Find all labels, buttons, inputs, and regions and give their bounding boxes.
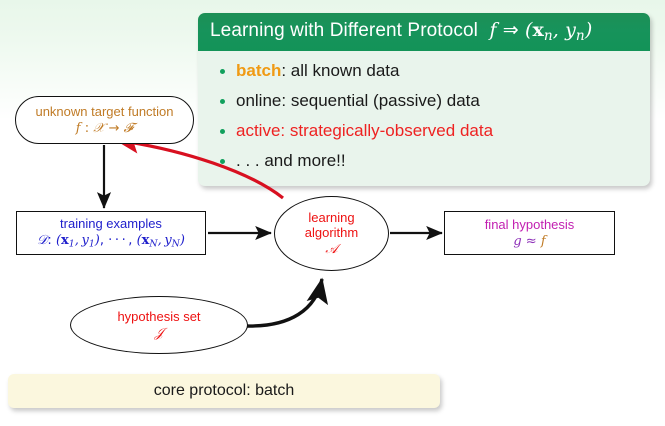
node-final-hypothesis: final hypothesis g ≈ f xyxy=(444,211,615,255)
node-learning-algorithm: learning algorithm 𝒜 xyxy=(274,196,389,271)
bullet-dot-icon xyxy=(220,159,225,164)
node-label-line1: unknown target function xyxy=(35,104,173,119)
node-label-line2: 𝒥 xyxy=(155,326,164,341)
bullet-rest: : sequential (passive) data xyxy=(281,91,479,110)
protocol-panel-title: Learning with Different Protocol f ⇒ (xn… xyxy=(198,13,650,51)
node-unknown-target-function: unknown target function f : 𝒳 → 𝓕 xyxy=(15,96,194,144)
bullet-term: batch xyxy=(236,61,281,80)
protocol-panel: Learning with Different Protocol f ⇒ (xn… xyxy=(198,13,650,186)
node-label-line2: g ≈ f xyxy=(513,234,545,249)
node-label-line1: hypothesis set xyxy=(117,309,200,324)
node-label-line2: 𝒟: (x1, y1), · · · , (xN, yN) xyxy=(37,233,185,250)
node-label-line2: f : 𝒳 → 𝓕 xyxy=(76,121,133,136)
core-protocol-banner-text: core protocol: batch xyxy=(154,382,295,400)
bullet-rest: : strategically-observed data xyxy=(280,121,493,140)
bullet-dot-icon xyxy=(220,129,225,134)
protocol-panel-title-text: Learning with Different Protocol xyxy=(210,20,478,41)
node-label-line1: training examples xyxy=(60,216,162,231)
slide-canvas: Learning with Different Protocol f ⇒ (xn… xyxy=(0,0,665,426)
bullet-term: active xyxy=(236,121,280,140)
protocol-bullet-list: batch: all known data online: sequential… xyxy=(208,57,640,175)
core-protocol-banner: core protocol: batch xyxy=(8,374,440,408)
list-item: . . . and more!! xyxy=(208,147,640,175)
list-item: active: strategically-observed data xyxy=(208,117,640,145)
list-item: online: sequential (passive) data xyxy=(208,87,640,115)
bullet-rest: : all known data xyxy=(281,61,399,80)
bullet-term: online xyxy=(236,91,281,110)
protocol-panel-body: batch: all known data online: sequential… xyxy=(198,51,650,186)
node-label-line1: learning xyxy=(308,210,354,225)
list-item: batch: all known data xyxy=(208,57,640,85)
title-formula: f ⇒ (xn, yn) xyxy=(483,19,592,41)
bullet-dot-icon xyxy=(220,69,225,74)
node-training-examples: training examples 𝒟: (x1, y1), · · · , (… xyxy=(16,211,206,255)
node-label-line2: algorithm xyxy=(305,225,358,240)
node-hypothesis-set: hypothesis set 𝒥 xyxy=(70,296,248,354)
node-label-line3: 𝒜 xyxy=(325,242,337,257)
bullet-dot-icon xyxy=(220,99,225,104)
bullet-term: . . . and more!! xyxy=(236,151,346,170)
arrow-hypothesis-to-algorithm xyxy=(246,279,322,326)
node-label-line1: final hypothesis xyxy=(485,217,575,232)
